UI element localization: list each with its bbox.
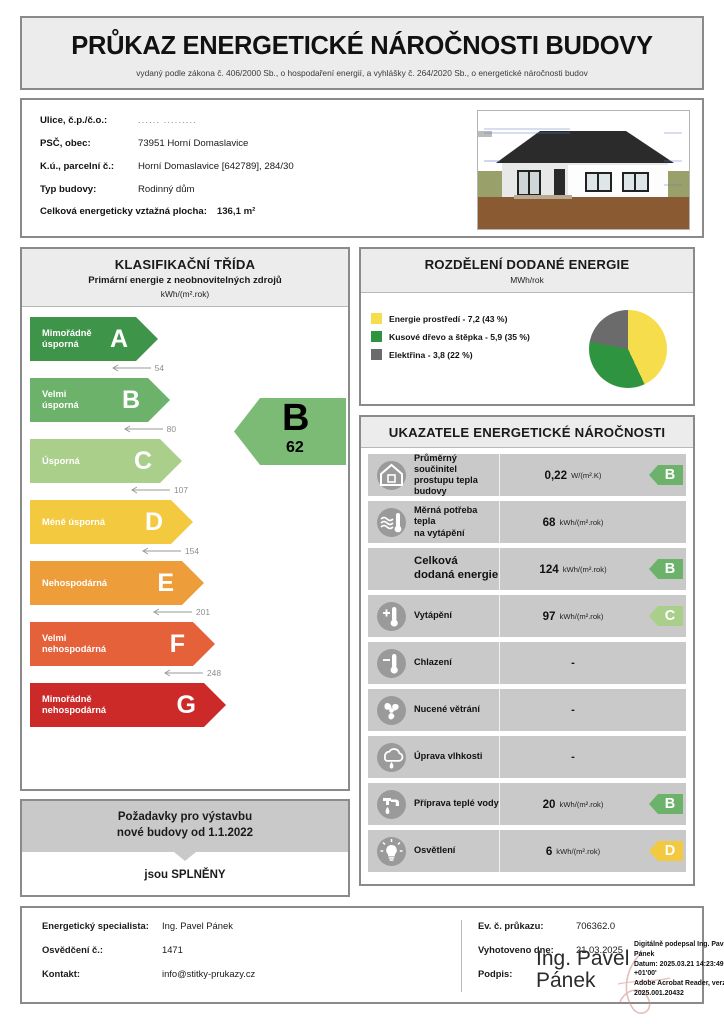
band-body: Velmi nehospodárnáF — [30, 622, 215, 666]
energy-band-b: Velmi úspornáB80 — [30, 378, 218, 439]
legend-label: Elektřina - 3,8 (22 %) — [389, 350, 473, 360]
band-letter: E — [157, 571, 204, 596]
indicator-unit: kWh/(m².rok) — [556, 847, 600, 856]
band-letter: B — [122, 388, 170, 413]
indicator-value-cell: - — [499, 642, 646, 684]
footer-left: Energetický specialista: Ing. Pavel Páne… — [22, 920, 462, 992]
pie-legend: Energie prostředí - 7,2 (43 %)Kusové dře… — [371, 303, 589, 367]
band-label: Nehospodárná — [30, 578, 107, 589]
grade-letter: B — [649, 792, 683, 816]
band-threshold: 80 — [30, 422, 218, 439]
band-letter: G — [177, 693, 226, 718]
indicators-panel: UKAZATELE ENERGETICKÉ NÁROČNOSTI Průměrn… — [359, 415, 695, 886]
indicator-grade-cell: B — [646, 792, 686, 816]
indicator-row: Úprava vlhkosti- — [368, 736, 686, 778]
status-badge: B — [649, 557, 683, 581]
contact-label: Kontakt: — [42, 968, 162, 979]
legend-label: Kusové dřevo a štěpka - 5,9 (35 %) — [389, 332, 530, 342]
band-label: Mimořádně nehospodárná — [30, 694, 106, 715]
energy-band-e: NehospodárnáE201 — [30, 561, 218, 622]
requirements-heading: Požadavky pro výstavbunové budovy od 1.1… — [22, 801, 348, 852]
right-column: ROZDĚLENÍ DODANÉ ENERGIE MWh/rok Energie… — [359, 247, 695, 897]
pie-header: ROZDĚLENÍ DODANÉ ENERGIE MWh/rok — [361, 249, 693, 293]
street-label: Ulice, č.p./č.o.: — [40, 116, 138, 127]
evidence-number-value: 706362.0 — [576, 920, 615, 931]
band-label: Velmi úsporná — [30, 389, 79, 410]
indicator-unit: kWh/(m².rok) — [560, 800, 604, 809]
grade-letter: C — [649, 604, 683, 628]
evidence-number-row: Ev. č. průkazu: 706362.0 — [478, 920, 688, 931]
classification-scale: Mimořádně úspornáA54Velmi úspornáB80Úspo… — [22, 307, 348, 789]
threshold-value: 248 — [207, 668, 221, 678]
band-label: Velmi nehospodárná — [30, 633, 106, 654]
pie-title: ROZDĚLENÍ DODANÉ ENERGIE — [367, 257, 687, 272]
status-badge: C — [649, 604, 683, 628]
classification-panel: KLASIFIKAČNÍ TŘÍDA Primární energie z ne… — [20, 247, 350, 791]
threshold-arrow-icon — [141, 547, 181, 555]
indicator-value: - — [571, 704, 575, 716]
house-icon — [377, 461, 406, 490]
indicator-value-cell: 0,22W/(m².K) — [499, 454, 646, 496]
cooling-icon — [377, 649, 406, 678]
floor-area-row: Celková energeticky vztažná plocha: 136,… — [40, 207, 469, 218]
indicator-value: 97 — [543, 610, 556, 623]
pie-chart — [589, 310, 667, 388]
grade-letter: D — [649, 839, 683, 863]
indicator-label: Příprava teplé vody — [414, 798, 499, 809]
building-type-row: Typ budovy: Rodinný dům — [40, 185, 469, 196]
indicator-value-cell: - — [499, 689, 646, 731]
indicator-value-cell: 6kWh/(m².rok) — [499, 830, 646, 872]
indicator-row: Měrná potřeba tepla na vytápění68kWh/(m²… — [368, 501, 686, 543]
threshold-value: 107 — [174, 485, 188, 495]
band-threshold: 154 — [30, 544, 218, 561]
indicator-value-cell: 20kWh/(m².rok) — [499, 783, 646, 825]
threshold-arrow-icon — [163, 669, 203, 677]
energy-band-g: Mimořádně nehospodárnáG — [30, 683, 218, 727]
legend-item: Elektřina - 3,8 (22 %) — [371, 349, 589, 360]
indicator-label: Nucené větrání — [414, 704, 499, 715]
heating-icon — [377, 602, 406, 631]
indicator-value-cell: - — [499, 736, 646, 778]
document-subtitle: vydaný podle zákona č. 406/2000 Sb., o h… — [32, 68, 692, 78]
building-info-panel: Ulice, č.p./č.o.: ...... ......... PSČ, … — [20, 98, 704, 238]
energy-bands: Mimořádně úspornáA54Velmi úspornáB80Úspo… — [30, 317, 218, 727]
band-body: Mimořádně nehospodárnáG — [30, 683, 226, 727]
indicator-value: 68 — [543, 516, 556, 529]
classification-header: KLASIFIKAČNÍ TŘÍDA Primární energie z ne… — [22, 249, 348, 307]
contact-value[interactable]: info@stitky-prukazy.cz — [162, 968, 255, 979]
status-badge: B — [649, 463, 683, 487]
band-letter: A — [110, 327, 158, 352]
pie-body: Energie prostředí - 7,2 (43 %)Kusové dře… — [361, 293, 693, 404]
threshold-value: 201 — [196, 607, 210, 617]
indicator-value: 124 — [539, 563, 558, 576]
indicator-label: Průměrný součinitel prostupu tepla budov… — [414, 453, 499, 497]
band-letter: C — [134, 449, 182, 474]
hot-water-icon — [377, 790, 406, 819]
building-type-label: Typ budovy: — [40, 185, 138, 196]
legend-swatch — [371, 331, 382, 342]
indicator-icon-cell — [368, 508, 414, 537]
indicator-icon-cell — [368, 602, 414, 631]
indicator-row: Průměrný součinitel prostupu tepla budov… — [368, 454, 686, 496]
page-title: PRŮKAZ ENERGETICKÉ NÁROČNOSTI BUDOVY — [32, 32, 692, 61]
indicator-grade-cell: C — [646, 604, 686, 628]
result-letter: B — [282, 399, 309, 437]
status-badge: D — [649, 839, 683, 863]
band-label: Úsporná — [30, 456, 80, 467]
document-header: PRŮKAZ ENERGETICKÉ NÁROČNOSTI BUDOVY vyd… — [20, 16, 704, 90]
band-body: Mimořádně úspornáA — [30, 317, 158, 361]
grade-letter: B — [649, 557, 683, 581]
floor-area-value: 136,1 m² — [217, 207, 255, 218]
indicator-label: Chlazení — [414, 657, 499, 668]
indicator-grade-cell: D — [646, 839, 686, 863]
indicator-grade-cell: B — [646, 557, 686, 581]
band-threshold: 54 — [30, 361, 218, 378]
certificate-number-label: Osvědčení č.: — [42, 944, 162, 955]
indicator-label: Vytápění — [414, 610, 499, 621]
band-threshold: 107 — [30, 483, 218, 500]
humidity-icon — [377, 743, 406, 772]
legend-swatch — [371, 313, 382, 324]
cadastre-label: K.ú., parcelní č.: — [40, 162, 138, 173]
indicator-icon-cell — [368, 743, 414, 772]
indicator-row: Nucené větrání- — [368, 689, 686, 731]
building-elevation-image — [477, 110, 690, 230]
classification-subtitle: Primární energie z neobnovitelných zdroj… — [28, 275, 342, 286]
left-column: KLASIFIKAČNÍ TŘÍDA Primární energie z ne… — [20, 247, 350, 897]
band-letter: D — [145, 510, 193, 535]
energy-band-d: Méně úspornáD154 — [30, 500, 218, 561]
street-row: Ulice, č.p./č.o.: ...... ......... — [40, 116, 469, 127]
building-type-value: Rodinný dům — [138, 185, 195, 196]
energy-band-a: Mimořádně úspornáA54 — [30, 317, 218, 378]
indicator-icon-cell — [368, 696, 414, 725]
indicator-value-cell: 97kWh/(m².rok) — [499, 595, 646, 637]
pie-unit: MWh/rok — [367, 275, 687, 285]
grade-letter: B — [649, 463, 683, 487]
indicator-unit: kWh/(m².rok) — [560, 612, 604, 621]
indicator-icon-cell — [368, 461, 414, 490]
indicator-row: Příprava teplé vody20kWh/(m².rok)B — [368, 783, 686, 825]
threshold-value: 154 — [185, 546, 199, 556]
specialist-label: Energetický specialista: — [42, 920, 162, 931]
signature-metadata: Digitálně podepsal Ing. Pavel PánekDatum… — [634, 940, 724, 999]
indicator-icon-cell — [368, 837, 414, 866]
band-label: Méně úsporná — [30, 517, 105, 528]
band-threshold: 201 — [30, 605, 218, 622]
classification-title: KLASIFIKAČNÍ TŘÍDA — [28, 257, 342, 272]
indicator-unit: kWh/(m².rok) — [560, 518, 604, 527]
floor-area-label: Celková energeticky vztažná plocha: — [40, 207, 207, 218]
energy-band-c: ÚspornáC107 — [30, 439, 218, 500]
indicator-value: 0,22 — [545, 469, 568, 482]
band-threshold: 248 — [30, 666, 218, 683]
band-body: Méně úspornáD — [30, 500, 193, 544]
requirements-heading-text: Požadavky pro výstavbunové budovy od 1.1… — [117, 811, 253, 839]
indicator-value: - — [571, 751, 575, 763]
lighting-icon — [377, 837, 406, 866]
indicator-value: 20 — [543, 798, 556, 811]
threshold-value: 54 — [155, 363, 164, 373]
legend-item: Energie prostředí - 7,2 (43 %) — [371, 313, 589, 324]
band-label: Mimořádně úsporná — [30, 328, 92, 349]
zip-row: PSČ, obec: 73951 Horní Domaslavice — [40, 139, 469, 150]
certificate-number-row: Osvědčení č.: 1471 — [42, 944, 447, 955]
energy-band-f: Velmi nehospodárnáF248 — [30, 622, 218, 683]
certificate-page: PRŮKAZ ENERGETICKÉ NÁROČNOSTI BUDOVY vyd… — [0, 0, 724, 1024]
indicator-value: 6 — [546, 845, 552, 858]
threshold-value: 80 — [167, 424, 176, 434]
cadastre-value: Horní Domaslavice [642789], 284/30 — [138, 162, 294, 173]
threshold-arrow-icon — [152, 608, 192, 616]
requirements-notch-icon — [174, 852, 196, 861]
indicators-header: UKAZATELE ENERGETICKÉ NÁROČNOSTI — [361, 417, 693, 448]
threshold-arrow-icon — [130, 486, 170, 494]
band-body: Velmi úspornáB — [30, 378, 170, 422]
indicator-row: Chlazení- — [368, 642, 686, 684]
specialist-value: Ing. Pavel Pánek — [162, 920, 233, 931]
indicator-value-cell: 68kWh/(m².rok) — [499, 501, 646, 543]
specialist-row: Energetický specialista: Ing. Pavel Páne… — [42, 920, 447, 931]
indicator-row: Osvětlení6kWh/(m².rok)D — [368, 830, 686, 872]
indicator-label: Úprava vlhkosti — [414, 751, 499, 762]
footer-right: Ev. č. průkazu: 706362.0 Vyhotoveno dne:… — [462, 920, 702, 992]
indicator-unit: W/(m².K) — [571, 471, 601, 480]
evidence-number-label: Ev. č. průkazu: — [478, 920, 576, 931]
indicator-icon-cell — [368, 790, 414, 819]
street-value: ...... ......... — [138, 116, 197, 127]
status-badge: B — [649, 792, 683, 816]
band-body: NehospodárnáE — [30, 561, 204, 605]
contact-row: Kontakt: info@stitky-prukazy.cz — [42, 968, 447, 979]
indicator-row: Vytápění97kWh/(m².rok)C — [368, 595, 686, 637]
indicator-unit: kWh/(m².rok) — [563, 565, 607, 574]
legend-label: Energie prostředí - 7,2 (43 %) — [389, 314, 507, 324]
classification-unit: kWh/(m².rok) — [28, 289, 342, 299]
cadastre-row: K.ú., parcelní č.: Horní Domaslavice [64… — [40, 162, 469, 173]
indicator-icon-cell — [368, 649, 414, 678]
ventilation-icon — [377, 696, 406, 725]
indicator-label: Měrná potřeba tepla na vytápění — [414, 505, 499, 538]
legend-swatch — [371, 349, 382, 360]
result-value: 62 — [286, 440, 304, 456]
band-body: ÚspornáC — [30, 439, 182, 483]
indicator-value-cell: 124kWh/(m².rok) — [499, 548, 646, 590]
footer-panel: Energetický specialista: Ing. Pavel Páne… — [20, 906, 704, 1004]
indicator-value: - — [571, 657, 575, 669]
indicators-title: UKAZATELE ENERGETICKÉ NÁROČNOSTI — [367, 425, 687, 440]
energy-distribution-panel: ROZDĚLENÍ DODANÉ ENERGIE MWh/rok Energie… — [359, 247, 695, 406]
band-letter: F — [170, 632, 215, 657]
certificate-number-value: 1471 — [162, 944, 183, 955]
main-content: KLASIFIKAČNÍ TŘÍDA Primární energie z ne… — [20, 247, 704, 897]
heat-demand-icon — [377, 508, 406, 537]
legend-item: Kusové dřevo a štěpka - 5,9 (35 %) — [371, 331, 589, 342]
zip-label: PSČ, obec: — [40, 139, 138, 150]
indicator-row: Celková dodaná energie124kWh/(m².rok)B — [368, 548, 686, 590]
result-badge: B 62 — [234, 393, 346, 470]
threshold-arrow-icon — [123, 425, 163, 433]
indicators-list: Průměrný součinitel prostupu tepla budov… — [361, 448, 693, 884]
indicator-label: Celková dodaná energie — [414, 555, 499, 582]
requirements-panel: Požadavky pro výstavbunové budovy od 1.1… — [20, 799, 350, 897]
zip-value: 73951 Horní Domaslavice — [138, 139, 248, 150]
threshold-arrow-icon — [111, 364, 151, 372]
indicator-grade-cell: B — [646, 463, 686, 487]
indicator-label: Osvětlení — [414, 845, 499, 856]
